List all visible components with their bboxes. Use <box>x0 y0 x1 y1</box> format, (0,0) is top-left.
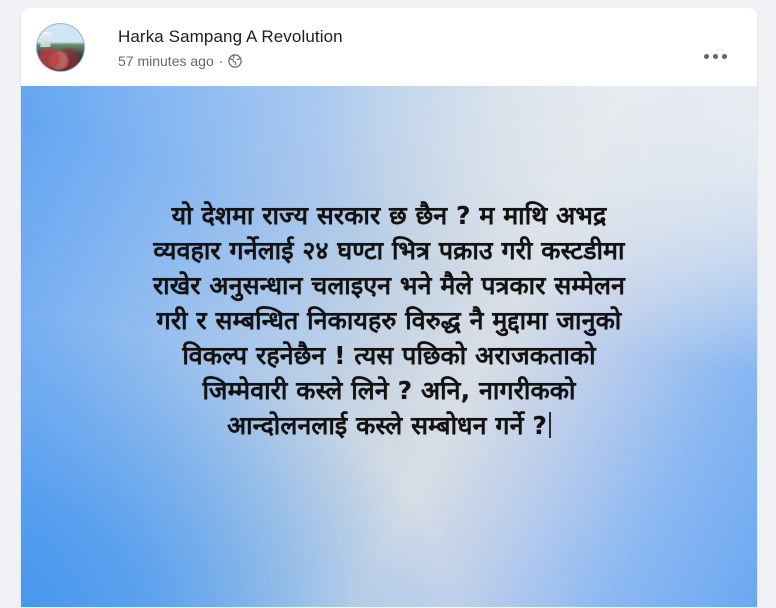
post-header-text: Harka Sampang A Revolution 57 minutes ag… <box>118 26 343 70</box>
ellipsis-dot <box>722 54 727 59</box>
post-text-line: गरी र सम्बन्धित निकायहरु विरुद्ध नै मुद्… <box>63 303 715 338</box>
author-name[interactable]: Harka Sampang A Revolution <box>118 26 343 47</box>
page-root: Harka Sampang A Revolution 57 minutes ag… <box>0 0 776 599</box>
post-text-line: आन्दोलनलाई कस्ले सम्बोधन गर्ने ? <box>227 411 547 440</box>
post-text-line: राखेर अनुसन्धान चलाइएन भने मैले पत्रकार … <box>63 268 715 303</box>
ellipsis-dot <box>713 54 718 59</box>
avatar[interactable] <box>36 23 85 72</box>
avatar-photo <box>37 24 84 71</box>
text-caret <box>549 412 551 438</box>
post-header: Harka Sampang A Revolution 57 minutes ag… <box>21 8 757 86</box>
ellipsis-icon[interactable] <box>697 38 733 74</box>
post-timestamp[interactable]: 57 minutes ago <box>118 52 214 70</box>
post-text-line-last: आन्दोलनलाई कस्ले सम्बोधन गर्ने ? <box>63 408 715 443</box>
post-text-line: यो देशमा राज्य सरकार छ छैन ? म माथि अभद्… <box>63 198 715 233</box>
post-image-text: यो देशमा राज्य सरकार छ छैन ? म माथि अभद्… <box>21 198 757 443</box>
meta-separator: · <box>219 52 224 70</box>
globe-icon[interactable] <box>228 54 242 68</box>
ellipsis-dot <box>704 54 709 59</box>
post-image[interactable]: यो देशमा राज्य सरकार छ छैन ? म माथि अभद्… <box>21 86 757 607</box>
post-meta-row: 57 minutes ago · <box>118 52 343 70</box>
post-text-line: विकल्प रहनेछैन ! त्यस पछिको अराजकताको <box>63 338 715 373</box>
post-text-line: व्यवहार गर्नेलाई २४ घण्टा भित्र पक्राउ ग… <box>63 233 715 268</box>
post-text-line: जिम्मेवारी कस्ले लिने ? अनि, नागरीकको <box>63 373 715 408</box>
post-card: Harka Sampang A Revolution 57 minutes ag… <box>21 8 757 608</box>
